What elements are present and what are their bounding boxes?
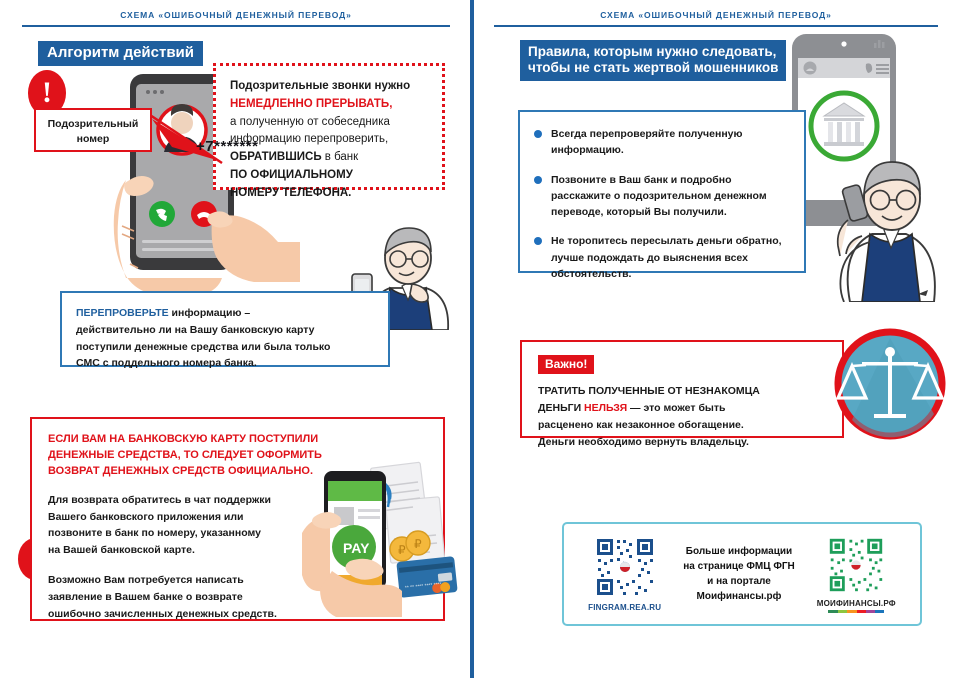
qr-text-line-2: на странице ФМЦ ФГН [683, 561, 795, 572]
refund-body-1-line-4: на Вашей банковской карте. [48, 544, 195, 556]
svg-text:PAY: PAY [343, 540, 370, 556]
qr-rainbow-bar [828, 610, 884, 613]
algorithm-badge-wrap: Алгоритм действий [38, 41, 203, 66]
important-line-2-b: — это может быть [627, 402, 725, 414]
important-line-2-a: ДЕНЬГИ [538, 402, 584, 414]
rules-list: Всегда перепроверяйте полученную информа… [534, 126, 788, 282]
important-line-2-red: НЕЛЬЗЯ [584, 402, 627, 414]
rules-list-box: Всегда перепроверяйте полученную информа… [518, 110, 806, 273]
refund-head-line-2: ДЕНЕЖНЫЕ СРЕДСТВА, ТО СЛЕДУЕТ ОФОРМИТЬ [48, 449, 322, 461]
recheck-line-2: действительно ли на Вашу банковскую карт… [76, 322, 374, 339]
dotted-line-1: Подозрительные звонки нужно [230, 78, 428, 96]
rules-list-item: Позвоните в Ваш банк и подробно расскажи… [534, 172, 788, 221]
left-header-title: СХЕМА «ОШИБОЧНЫЙ ДЕНЕЖНЫЙ ПЕРЕВОД» [22, 10, 450, 25]
qr-code-fingram-icon[interactable] [594, 536, 656, 598]
refund-body-1-line-1: Для возврата обратитесь в чат поддержки [48, 494, 271, 506]
qr-info-text: Больше информации на странице ФМЦ ФГН и … [683, 544, 795, 604]
recheck-lead: ПЕРЕПРОВЕРЬТЕ [76, 307, 169, 319]
dotted-line-4: информацию перепроверить, [230, 131, 428, 149]
recheck-info-box: ПЕРЕПРОВЕРЬТЕ информацию – действительно… [60, 291, 390, 367]
left-page-header: СХЕМА «ОШИБОЧНЫЙ ДЕНЕЖНЫЙ ПЕРЕВОД» [22, 10, 450, 36]
right-header-rule [494, 25, 938, 27]
left-header-rule [22, 25, 450, 27]
important-tag: Важно! [538, 355, 594, 374]
svg-text:₽: ₽ [414, 537, 422, 551]
left-column: СХЕМА «ОШИБОЧНЫЙ ДЕНЕЖНЫЙ ПЕРЕВОД» Алгор… [0, 0, 472, 678]
important-body: ТРАТИТЬ ПОЛУЧЕННЫЕ ОТ НЕЗНАКОМЦА ДЕНЬГИ … [538, 383, 826, 451]
rules-badge-line-2: чтобы не стать жертвой мошенников [528, 60, 778, 75]
rules-badge-wrap: Правила, которым нужно следовать, чтобы … [520, 40, 786, 81]
dotted-line-5-rest: в банк [322, 151, 359, 163]
refund-head-line-3: ВОЗВРАТ ДЕНЕЖНЫХ СРЕДСТВ ОФИЦИАЛЬНО. [48, 465, 313, 477]
rules-list-item: Всегда перепроверяйте полученную информа… [534, 126, 788, 159]
recheck-line-4: СМС с поддельного номера банка. [76, 355, 374, 372]
right-column: СХЕМА «ОШИБОЧНЫЙ ДЕНЕЖНЫЙ ПЕРЕВОД» Прави… [472, 0, 960, 678]
mobile-payment-illustration: ₽ ₽ ** ** **** **** **** PAY [296, 447, 458, 617]
qr-unit-moifinansy[interactable]: МОИФИНАНСЫ.РФ [817, 536, 896, 613]
recheck-line-3: поступили денежные средства или была тол… [76, 339, 374, 356]
dotted-line-2: НЕМЕДЛЕННО ПРЕРЫВАТЬ, [230, 96, 428, 114]
caller-number: +7******* [196, 138, 258, 155]
important-line-3: расценено как незаконное обогащение. [538, 419, 744, 431]
qr-text-line-3: и на портале [707, 576, 771, 587]
qr-caption-moifinansy: МОИФИНАНСЫ.РФ [817, 599, 896, 608]
right-header-title: СХЕМА «ОШИБОЧНЫЙ ДЕНЕЖНЫЙ ПЕРЕВОД» [494, 10, 938, 25]
scales-of-justice-icon [834, 328, 946, 440]
callout-line-1: Подозрительный [48, 118, 139, 130]
refund-body-2-line-1: Возможно Вам потребуется написать [48, 574, 244, 586]
qr-caption-fingram: FINGRAM.REA.RU [588, 603, 661, 612]
refund-body-2-line-3: ошибочно зачисленных денежных средств. [48, 608, 277, 620]
dotted-line-7: НОМЕРУ ТЕЛЕФОНА. [230, 185, 428, 203]
dotted-line-6: ПО ОФИЦИАЛЬНОМУ [230, 167, 428, 185]
refund-body-2-line-2: заявление в Вашем банке о возврате [48, 591, 243, 603]
suspicious-number-callout: Подозрительный номер [34, 108, 152, 152]
dotted-line-3: а полученную от собеседника [230, 114, 428, 132]
recheck-line-1: ПЕРЕПРОВЕРЬТЕ информацию – [76, 305, 374, 322]
refund-body-1-line-3: позвоните в банк по номеру, указанному [48, 527, 261, 539]
qr-unit-fingram[interactable]: FINGRAM.REA.RU [588, 536, 661, 612]
refund-head-line-1: ЕСЛИ ВАМ НА БАНКОВСКУЮ КАРТУ ПОСТУПИЛИ [48, 433, 318, 445]
refund-body-1-line-2: Вашего банковского приложения или [48, 511, 244, 523]
important-warning-box: Важно! ТРАТИТЬ ПОЛУЧЕННЫЕ ОТ НЕЗНАКОМЦА … [520, 340, 844, 438]
rules-badge-line-1: Правила, которым нужно следовать, [528, 44, 776, 59]
important-line-1: ТРАТИТЬ ПОЛУЧЕННЫЕ ОТ НЕЗНАКОМЦА [538, 385, 760, 397]
rules-badge: Правила, которым нужно следовать, чтобы … [520, 40, 786, 81]
qr-footer-box: FINGRAM.REA.RU Больше информации на стра… [562, 522, 922, 626]
qr-text-line-1: Больше информации [686, 546, 792, 557]
qr-text-line-4: Моифинансы.рф [697, 591, 782, 602]
bank-call-illustration [782, 30, 954, 302]
important-line-4: Деньги необходимо вернуть владельцу. [538, 436, 749, 448]
infographic-page: СХЕМА «ОШИБОЧНЫЙ ДЕНЕЖНЫЙ ПЕРЕВОД» Алгор… [0, 0, 960, 678]
interrupt-calls-panel: Подозрительные звонки нужно НЕМЕДЛЕННО П… [213, 63, 445, 190]
rules-list-item: Не торопитесь пересылать деньги обратно,… [534, 233, 788, 282]
recheck-lead-rest: информацию – [169, 307, 251, 319]
svg-text:₽: ₽ [398, 543, 406, 557]
algorithm-badge: Алгоритм действий [38, 41, 203, 66]
qr-code-moifinansy-icon[interactable] [827, 536, 885, 594]
dotted-line-5: ОБРАТИВШИСЬ в банк [230, 149, 428, 167]
callout-line-2: номер [77, 133, 110, 145]
